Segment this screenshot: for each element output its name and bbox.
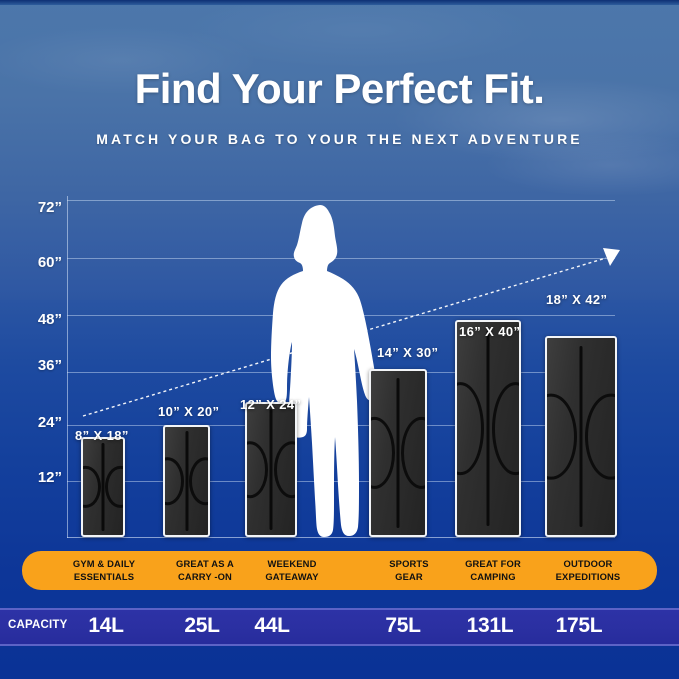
category-1[interactable]: GYM & DAILY ESSENTIALS <box>48 558 160 583</box>
category-6-line2: EXPEDITIONS <box>533 571 643 584</box>
bag-size-label-3: 12” X 24” <box>240 397 301 412</box>
bag-bars-layer <box>0 0 679 537</box>
bag-seam <box>580 346 583 527</box>
capacity-value-1: 14L <box>56 614 156 638</box>
category-1-line2: ESSENTIALS <box>48 571 160 584</box>
bag-seam <box>487 331 490 527</box>
bag-seam <box>397 378 400 529</box>
bag-seam <box>102 443 105 531</box>
category-3-line1: WEEKEND <box>238 558 346 571</box>
bag-bar-4[interactable] <box>369 369 427 537</box>
category-1-line1: GYM & DAILY <box>48 558 160 571</box>
category-5[interactable]: GREAT FOR CAMPING <box>443 558 543 583</box>
category-3[interactable]: WEEKEND GATEAWAY <box>238 558 346 583</box>
bag-size-label-6: 18” X 42” <box>546 292 607 307</box>
bag-bar-1[interactable] <box>81 437 125 537</box>
bag-size-label-4: 14” X 30” <box>377 345 438 360</box>
bag-bar-6[interactable] <box>545 336 617 537</box>
infographic-root: Find Your Perfect Fit. MATCH YOUR BAG TO… <box>0 0 679 679</box>
category-6[interactable]: OUTDOOR EXPEDITIONS <box>533 558 643 583</box>
category-3-line2: GATEAWAY <box>238 571 346 584</box>
category-5-line1: GREAT FOR <box>443 558 543 571</box>
category-5-line2: CAMPING <box>443 571 543 584</box>
capacity-value-4: 75L <box>353 614 453 638</box>
capacity-value-6: 175L <box>529 614 629 638</box>
capacity-value-3: 44L <box>222 614 322 638</box>
bag-bar-3[interactable] <box>245 402 297 537</box>
bag-size-label-1: 8” X 18” <box>75 428 129 443</box>
bag-seam <box>185 431 188 530</box>
bag-size-label-5: 16” X 40” <box>459 324 520 339</box>
bag-size-label-2: 10” X 20” <box>158 404 219 419</box>
category-6-line1: OUTDOOR <box>533 558 643 571</box>
capacity-value-5: 131L <box>440 614 540 638</box>
bag-bar-5[interactable] <box>455 320 521 537</box>
bag-bar-2[interactable] <box>163 425 210 537</box>
bag-seam <box>270 409 273 530</box>
